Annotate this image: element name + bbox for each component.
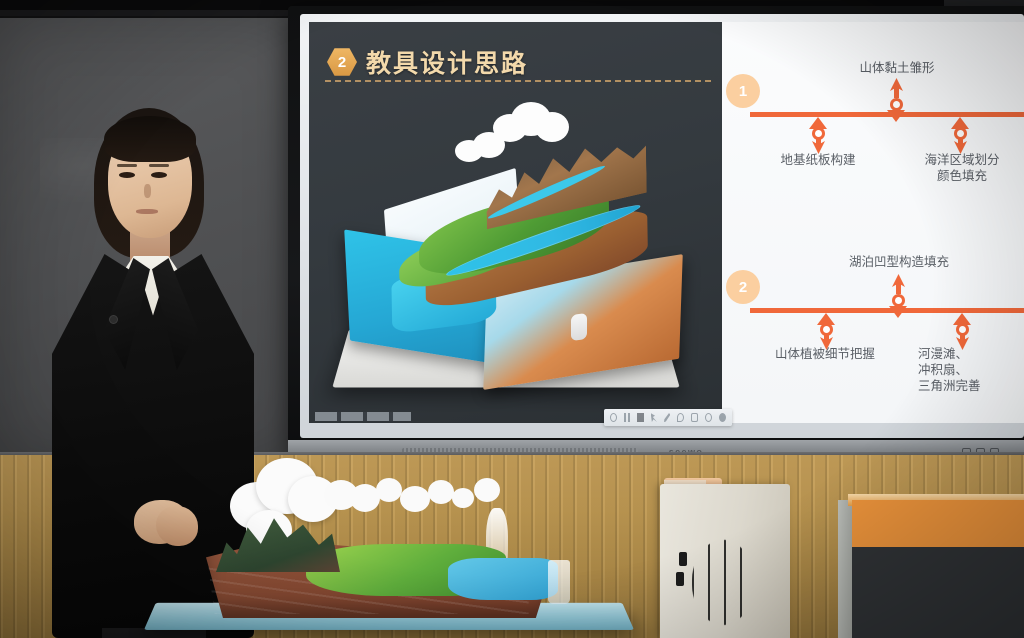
section-badge: 2 (327, 47, 357, 77)
book-figure (571, 313, 587, 341)
slide-bottom-strip (315, 412, 411, 421)
divider-icon (637, 413, 643, 422)
model-water-body (448, 558, 558, 600)
shape-icon[interactable] (610, 413, 617, 422)
timeline-marker-2: 2 (726, 270, 760, 304)
timeline-label-1-right: 海洋区域划分 颜色填充 (900, 152, 1024, 184)
timeline-marker-1: 1 (726, 74, 760, 108)
hand-right (156, 506, 198, 546)
annotation-toolbar[interactable] (604, 409, 732, 426)
slide-title: 教具设计思路 (366, 44, 528, 80)
timeline-label-2-top: 湖泊凹型构造填充 (828, 254, 970, 270)
slide-left-panel: 2 教具设计思路 (309, 22, 722, 423)
eye-right (151, 172, 167, 178)
timeline-axis-1 (750, 112, 1024, 117)
cloud-icon (453, 130, 515, 164)
shape-circle-icon[interactable] (705, 413, 712, 422)
whiteboard-screen[interactable]: 2 教具设计思路 (309, 22, 1024, 423)
menu-icon[interactable] (624, 413, 630, 422)
highlighter-icon[interactable] (677, 413, 684, 422)
eyebrow-right (149, 164, 169, 167)
wooden-podium (852, 500, 1024, 638)
more-icon[interactable] (719, 413, 726, 422)
bangs (104, 116, 196, 162)
popup-book-artwork (335, 92, 715, 412)
eraser-icon[interactable] (691, 413, 698, 422)
eye-left (119, 172, 135, 178)
cabinet-key-icon[interactable] (679, 552, 687, 566)
slide-right-panel: 1 山体黏土雏形 (722, 22, 1024, 423)
timeline-label-2-left: 山体植被细节把握 (750, 346, 900, 362)
cabinet-lock-icon[interactable] (676, 572, 684, 586)
vent-grille (684, 508, 762, 632)
beaker (548, 560, 570, 604)
pen-icon[interactable] (664, 413, 670, 422)
mouth (136, 209, 158, 214)
lapel-microphone-icon (110, 316, 117, 323)
nose (144, 184, 151, 198)
cursor-icon[interactable] (651, 413, 657, 422)
timeline-axis-2 (750, 308, 1024, 313)
slide-header: 2 教具设计思路 (327, 44, 528, 80)
classroom-scene: 2 教具设计思路 (0, 0, 1024, 638)
presentation-slide: 2 教具设计思路 (309, 22, 1024, 423)
eyebrow-left (117, 164, 137, 167)
timeline-label-1-top: 山体黏土雏形 (832, 60, 962, 76)
terrain-teaching-model (196, 452, 576, 624)
title-divider (325, 80, 711, 82)
timeline-label-1-left: 地基纸板构建 (754, 152, 882, 168)
timeline-label-2-right: 河漫滩、 冲积扇、 三角洲完善 (918, 346, 1022, 394)
